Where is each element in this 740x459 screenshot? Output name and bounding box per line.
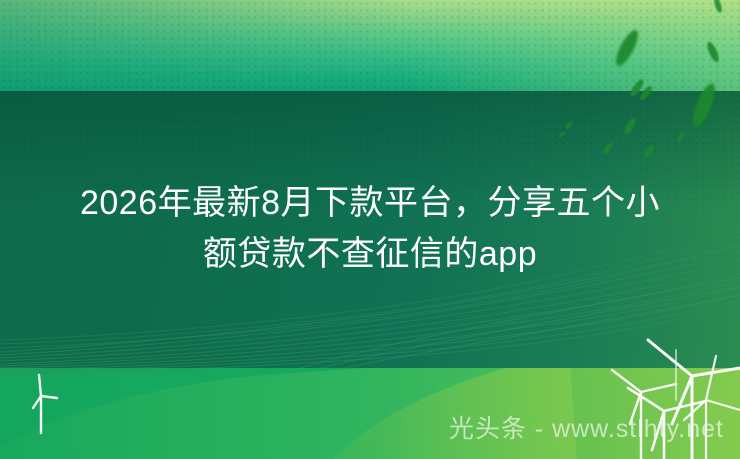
banner-title: 2026年最新8月下款平台，分享五个小 额贷款不查征信的app <box>0 178 740 280</box>
banner-image: 2026年最新8月下款平台，分享五个小 额贷款不查征信的app <box>0 0 740 459</box>
title-line-1: 2026年最新8月下款平台，分享五个小 <box>24 178 716 229</box>
background-band-top <box>0 0 740 91</box>
watermark-text: 光头条 - www.stlhty.net <box>449 409 724 445</box>
title-line-2: 额贷款不查征信的app <box>24 229 716 280</box>
